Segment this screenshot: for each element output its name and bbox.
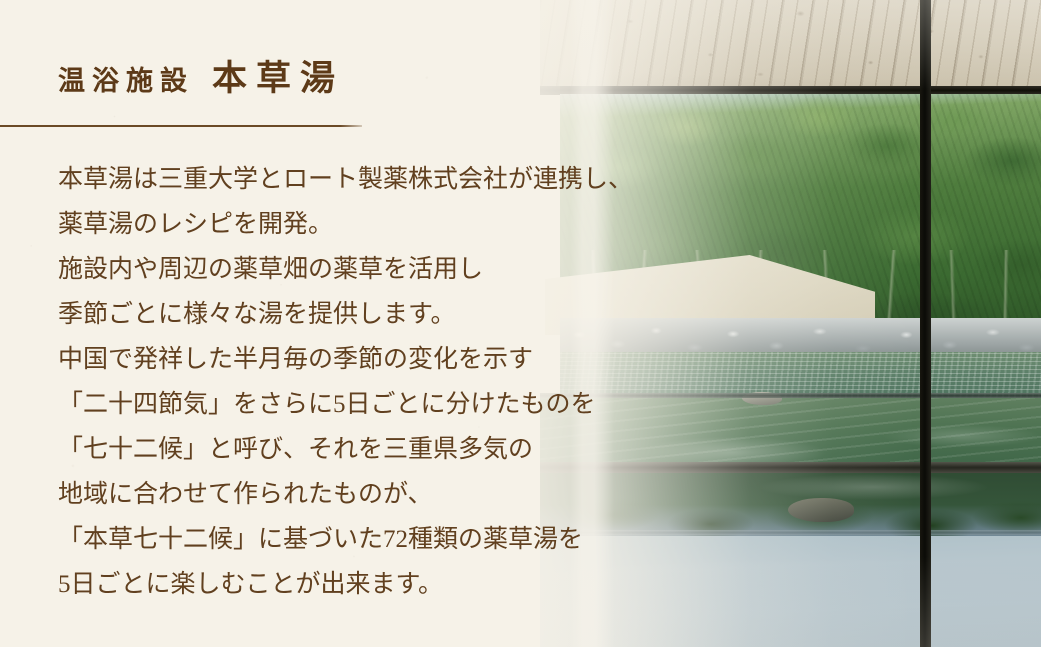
body-line: 「七十二候」と呼び、それを三重県多気の bbox=[58, 427, 698, 472]
body-line: 本草湯は三重大学とロート製薬株式会社が連携し、 bbox=[58, 157, 698, 202]
body-line: 「本草七十二候」に基づいた72種類の薬草湯を bbox=[58, 517, 698, 562]
page-title-prefix: 温浴施設 bbox=[58, 66, 194, 96]
body-line: 施設内や周辺の薬草畑の薬草を活用し bbox=[58, 247, 698, 292]
title-divider bbox=[0, 125, 362, 127]
body-line: 中国で発祥した半月毎の季節の変化を示す bbox=[58, 337, 698, 382]
page-title: 温浴施設本草湯 bbox=[58, 61, 344, 96]
window-mullion-vertical bbox=[920, 0, 931, 647]
body-line: 「二十四節気」をさらに5日ごとに分けたものを bbox=[58, 382, 698, 427]
body-line: 地域に合わせて作られたものが、 bbox=[58, 472, 698, 517]
body-line: 季節ごとに様々な湯を提供します。 bbox=[58, 292, 698, 337]
text-content: 温浴施設本草湯 本草湯は三重大学とロート製薬株式会社が連携し、 薬草湯のレシピを… bbox=[0, 0, 720, 647]
body-paragraph: 本草湯は三重大学とロート製薬株式会社が連携し、 薬草湯のレシピを開発。 施設内や… bbox=[58, 157, 698, 607]
body-line: 薬草湯のレシピを開発。 bbox=[58, 202, 698, 247]
rock-large bbox=[788, 498, 854, 522]
promo-panel: 温浴施設本草湯 本草湯は三重大学とロート製薬株式会社が連携し、 薬草湯のレシピを… bbox=[0, 0, 1041, 647]
page-title-main: 本草湯 bbox=[212, 59, 344, 98]
body-line: 5日ごとに楽しむことが出来ます。 bbox=[58, 562, 698, 607]
